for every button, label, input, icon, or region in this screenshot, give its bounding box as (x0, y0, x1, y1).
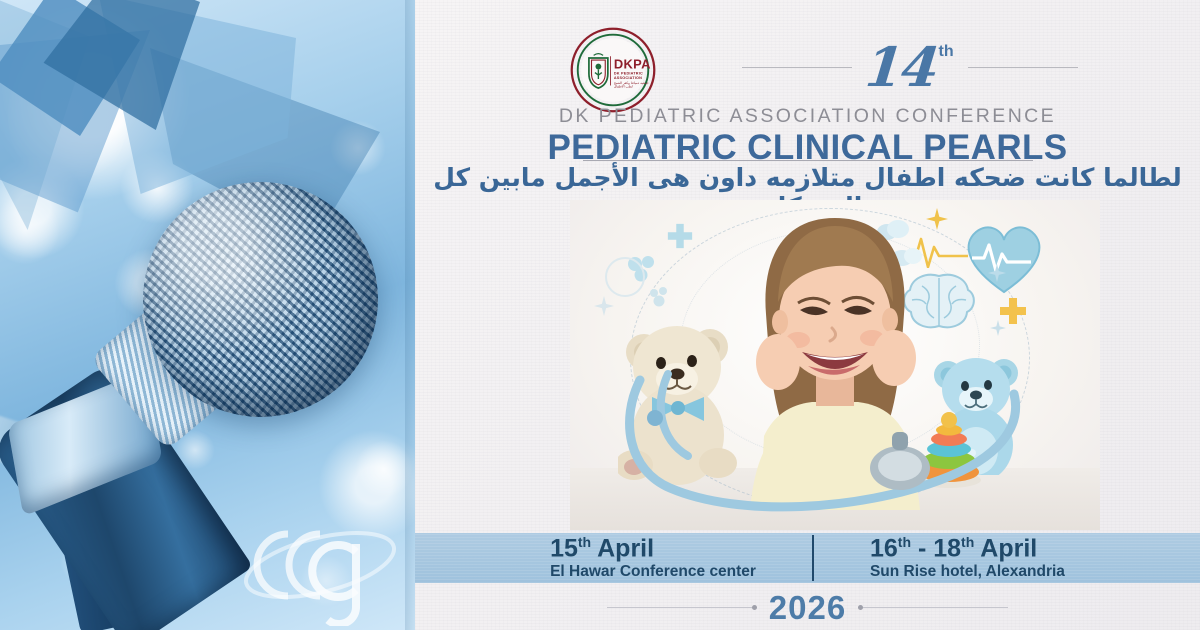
year-rule-right (858, 607, 1008, 608)
date-2-venue: Sun Rise hotel, Alexandria (870, 562, 1065, 581)
stethoscope-icon (610, 360, 1070, 520)
date-entry-1: 15th April El Hawar Conference center (550, 535, 756, 581)
date-1-venue: El Hawar Conference center (550, 562, 756, 581)
date-entry-2: 16th - 18th April Sun Rise hotel, Alexan… (870, 535, 1065, 581)
edition-ordinal: 14 th (866, 40, 953, 94)
title-divider (583, 160, 1033, 161)
sparkle-icon (594, 296, 614, 316)
page-title: PEDIATRIC CLINICAL PEARLS (415, 128, 1200, 168)
date-1-primary: 15th April (550, 535, 756, 562)
year-row: 2026 (415, 585, 1200, 630)
sparkle-icon (990, 320, 1006, 336)
edition-number: 14 (864, 40, 941, 94)
decorative-rule-right (968, 67, 1078, 68)
edition-number-row: 14 th (565, 34, 1185, 100)
conference-poster: DKPA DK PEDIATRIC ASSOCIATION جمعيه دميا… (0, 0, 1200, 630)
microphone-photo-panel (0, 0, 415, 630)
decorative-rule-left (742, 67, 852, 68)
poster-content-panel: DKPA DK PEDIATRIC ASSOCIATION جمعيه دميا… (415, 0, 1200, 630)
conference-year: 2026 (769, 589, 846, 627)
medical-cross-icon (666, 222, 694, 250)
sparkle-icon (988, 264, 1006, 282)
dates-row: 15th April El Hawar Conference center 16… (415, 526, 1200, 590)
poster-header: DKPA DK PEDIATRIC ASSOCIATION جمعيه دميا… (415, 0, 1200, 205)
circle-outline-doodle (602, 256, 648, 298)
date-divider (812, 535, 814, 581)
association-subtitle: DK PEDIATRIC ASSOCIATION CONFERENCE (415, 105, 1200, 128)
hero-illustration (570, 200, 1100, 530)
date-2-primary: 16th - 18th April (870, 535, 1065, 562)
year-rule-left (607, 607, 757, 608)
edition-suffix: th (939, 44, 954, 60)
ccg-watermark-logo (228, 508, 408, 626)
